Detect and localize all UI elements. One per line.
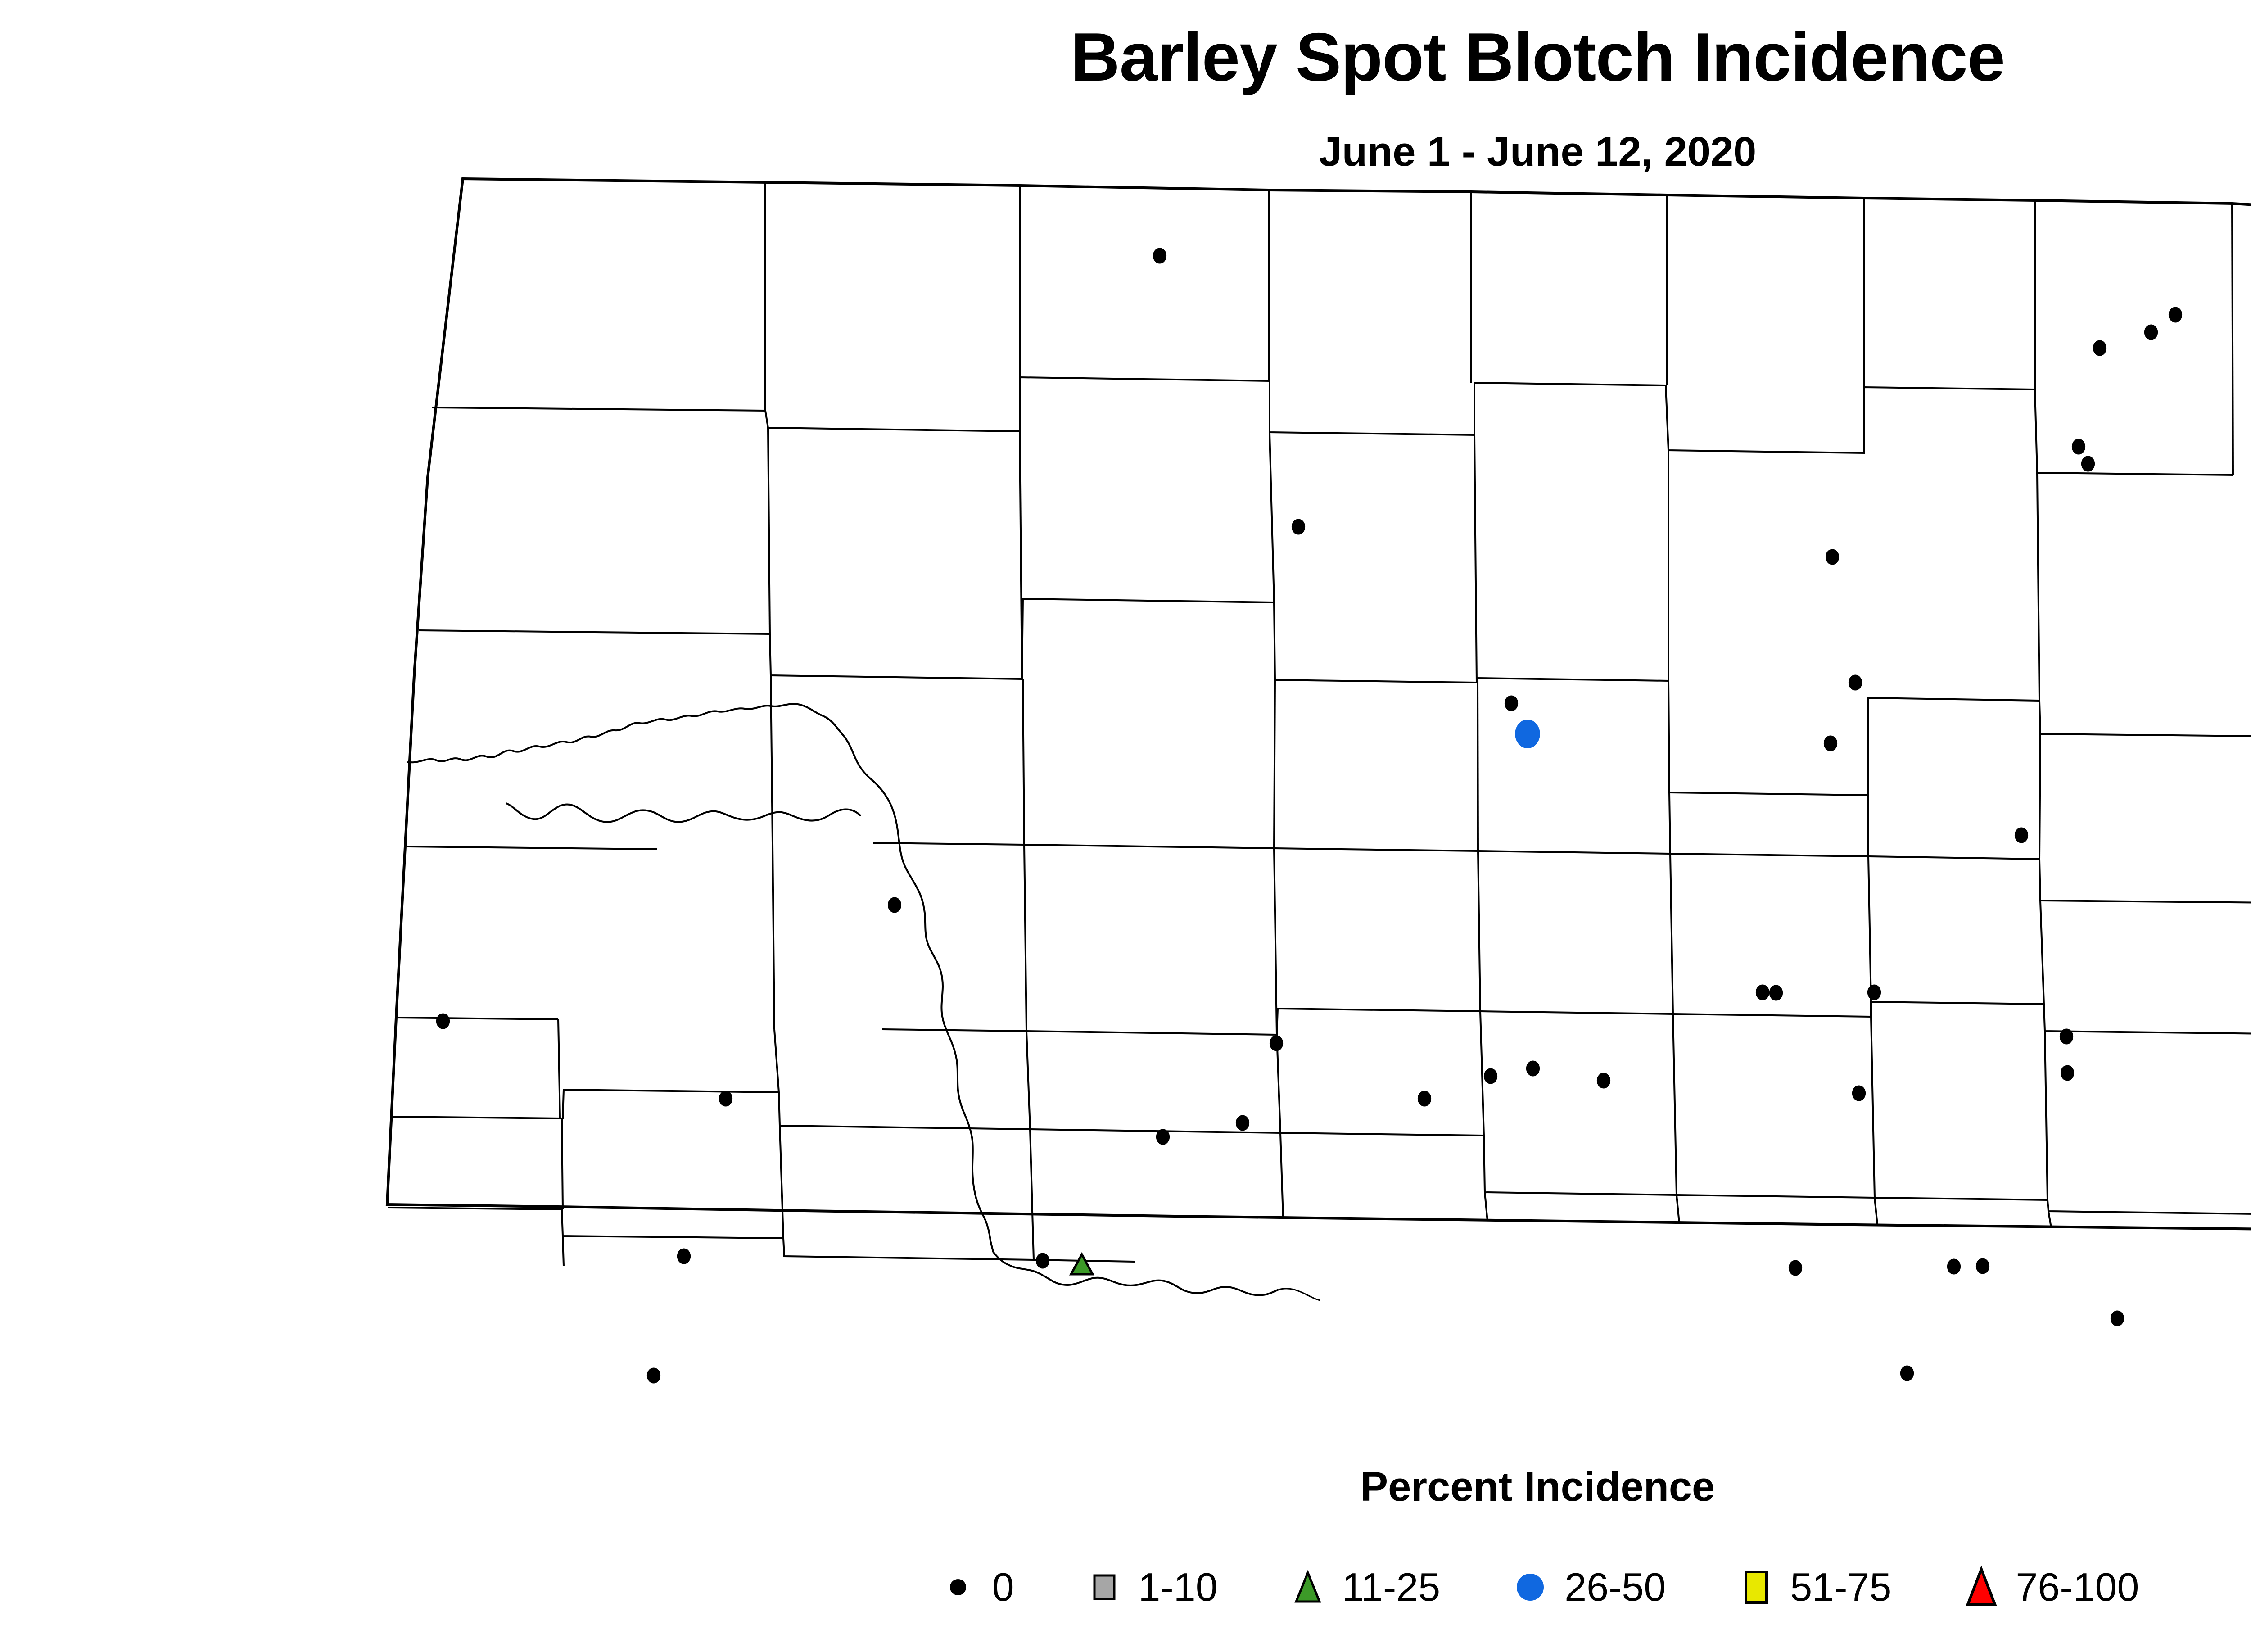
vline-c3	[1274, 680, 1275, 848]
map-data-point	[1526, 1061, 1539, 1076]
vline-c1	[771, 675, 773, 843]
vline-e6	[1673, 1014, 1677, 1195]
vline-f2	[780, 1126, 783, 1238]
tier-line-13	[882, 1029, 1277, 1035]
legend-marker-1-10-icon	[1083, 1566, 1126, 1609]
vline-c4	[1478, 678, 1478, 851]
legend-item[interactable]: 26-50	[1509, 1566, 1666, 1609]
map-county-borders	[387, 179, 2251, 1300]
legend-label: 11-25	[1342, 1567, 1441, 1607]
vline-f1	[562, 1118, 563, 1209]
vline-e8	[2045, 1031, 2048, 1200]
vline-f3	[1030, 1129, 1034, 1260]
legend-label: 51-75	[1790, 1567, 1891, 1607]
vline-b6	[2037, 473, 2039, 701]
map-data-point	[2144, 325, 2157, 340]
map-data-point	[1597, 1073, 1610, 1088]
legend-label: 1-10	[1139, 1567, 1218, 1607]
legend-item[interactable]: 76-100	[1960, 1566, 2139, 1609]
legend-label: 76-100	[2016, 1567, 2139, 1607]
vline-g1	[563, 1236, 564, 1266]
tier-line-2	[1020, 377, 1666, 435]
vline-f8	[2048, 1211, 2051, 1227]
vline-f7	[1875, 1198, 1877, 1225]
vline-d7	[2040, 901, 2044, 1004]
map-data-point	[1976, 1258, 1989, 1274]
map-data-point	[1153, 248, 1166, 263]
vline-e5	[1480, 1011, 1484, 1136]
vline-f4	[1280, 1133, 1283, 1218]
tier-line-1-west	[432, 407, 765, 411]
map-data-point	[1071, 1254, 1093, 1274]
state-outline	[387, 179, 2251, 1230]
vline-b1	[768, 428, 770, 634]
legend-item[interactable]: 0	[936, 1566, 1014, 1609]
map-data-point	[1484, 1068, 1497, 1084]
vline-b4	[1474, 435, 1477, 683]
vline-b3	[1270, 432, 1274, 602]
tier-line-17b	[2048, 1200, 2251, 1216]
map-data-point	[2093, 340, 2106, 356]
vline-e3	[1026, 1031, 1030, 1129]
tier-line-11	[873, 843, 2039, 859]
river-sheyenne	[1279, 1289, 1320, 1300]
tier-line-3	[419, 630, 770, 634]
map-data-point	[2015, 828, 2028, 843]
map-data-point	[1418, 1091, 1431, 1106]
map-data-point	[1867, 985, 1880, 1000]
tier-line-11b	[2039, 859, 2251, 903]
vline-d2	[1024, 845, 1026, 1031]
vline-d4	[1478, 851, 1480, 1011]
legend-label: 0	[992, 1567, 1014, 1607]
map-data-point	[1270, 1036, 1283, 1051]
data-points-layer	[436, 248, 2251, 1383]
map-data-point	[888, 897, 901, 913]
tier-line-14b	[2044, 1004, 2251, 1035]
map-data-point	[1036, 1253, 1049, 1268]
vline-d3	[1274, 848, 1277, 1035]
map-data-point	[719, 1091, 732, 1106]
tier-line-8	[1867, 698, 2039, 795]
tier-line-14	[1277, 1002, 2044, 1035]
map-data-point	[2061, 1065, 2074, 1081]
tier-line-2c	[2035, 389, 2233, 475]
map-data-point	[2169, 307, 2182, 322]
north-dakota-county-map	[0, 162, 2251, 1468]
vline-d5	[1670, 854, 1673, 1014]
vline-b2	[1020, 431, 1022, 679]
map-data-point	[1236, 1115, 1249, 1131]
map-data-point	[1292, 519, 1305, 534]
tier-line-1b	[765, 411, 768, 428]
legend-item[interactable]: 11-25	[1286, 1566, 1441, 1609]
tier-line-9	[2039, 701, 2251, 737]
map-data-point	[2060, 1029, 2073, 1044]
tier-line-5	[1022, 599, 1274, 679]
map-data-point	[1824, 736, 1837, 751]
map-data-point	[2081, 456, 2094, 471]
tier-line-7	[1668, 681, 1867, 795]
legend-marker-76-100-icon	[1960, 1566, 2003, 1609]
map-data-point	[1849, 675, 1862, 690]
legend-label: 26-50	[1564, 1567, 1666, 1607]
legend-marker-26-50-icon	[1509, 1566, 1552, 1609]
page-root: Barley Spot Blotch Incidence June 1 - Ju…	[0, 0, 2251, 1652]
legend-marker-11-25-icon	[1286, 1566, 1329, 1609]
legend-marker-zero-icon	[936, 1566, 980, 1609]
map-data-point	[1900, 1366, 1913, 1381]
map-data-point	[1947, 1259, 1960, 1274]
vline-c7	[2039, 734, 2040, 859]
map-data-point	[1769, 985, 1782, 1000]
legend-title: Percent Incidence	[0, 1463, 2251, 1511]
map-data-point	[1505, 696, 1518, 711]
vline-c5	[1669, 792, 1670, 854]
map-data-point	[1515, 720, 1539, 748]
tier-line-2b	[1666, 385, 2035, 453]
vline-e1	[558, 1019, 560, 1118]
tier-line-1c	[768, 428, 1020, 431]
map-svg	[0, 162, 2251, 1468]
vline-f5	[1485, 1192, 1487, 1221]
map-data-point	[1756, 985, 1769, 1000]
tier-line-12	[396, 1018, 558, 1019]
map-data-point	[2072, 439, 2085, 454]
vline-f6	[1677, 1195, 1679, 1223]
vline-e7	[1871, 1017, 1875, 1198]
vline-d1	[773, 843, 774, 1029]
tier-line-17	[1484, 1136, 2048, 1200]
tier-line-6	[1274, 602, 1668, 683]
legend-item[interactable]: 51-75	[1734, 1566, 1891, 1609]
map-data-point	[647, 1368, 660, 1383]
tier-line-18	[388, 1208, 783, 1238]
map-data-point	[1156, 1129, 1169, 1145]
page-title: Barley Spot Blotch Incidence	[0, 22, 2251, 94]
lake-sakakawea	[506, 803, 861, 822]
vline-ne1	[2232, 204, 2233, 475]
vline-c2	[1023, 679, 1024, 845]
map-data-point	[1826, 549, 1839, 565]
missouri-river-south	[993, 1252, 1279, 1295]
tier-line-4	[770, 634, 1022, 679]
map-data-point	[1852, 1086, 1865, 1101]
vline-e2	[774, 1029, 779, 1092]
missouri-river	[407, 704, 993, 1252]
vline-d6	[1868, 856, 1871, 1002]
map-data-point	[436, 1014, 449, 1029]
tier-line-16	[779, 1092, 1484, 1136]
tier-line-10	[407, 846, 657, 849]
map-data-point	[677, 1249, 690, 1264]
map-data-point	[2111, 1311, 2124, 1326]
legend-item[interactable]: 1-10	[1083, 1566, 1218, 1609]
legend-marker-51-75-icon	[1734, 1566, 1777, 1609]
map-data-point	[1789, 1260, 1802, 1276]
legend: 0 1-10 11-25 26-50 51-75	[0, 1540, 2251, 1634]
